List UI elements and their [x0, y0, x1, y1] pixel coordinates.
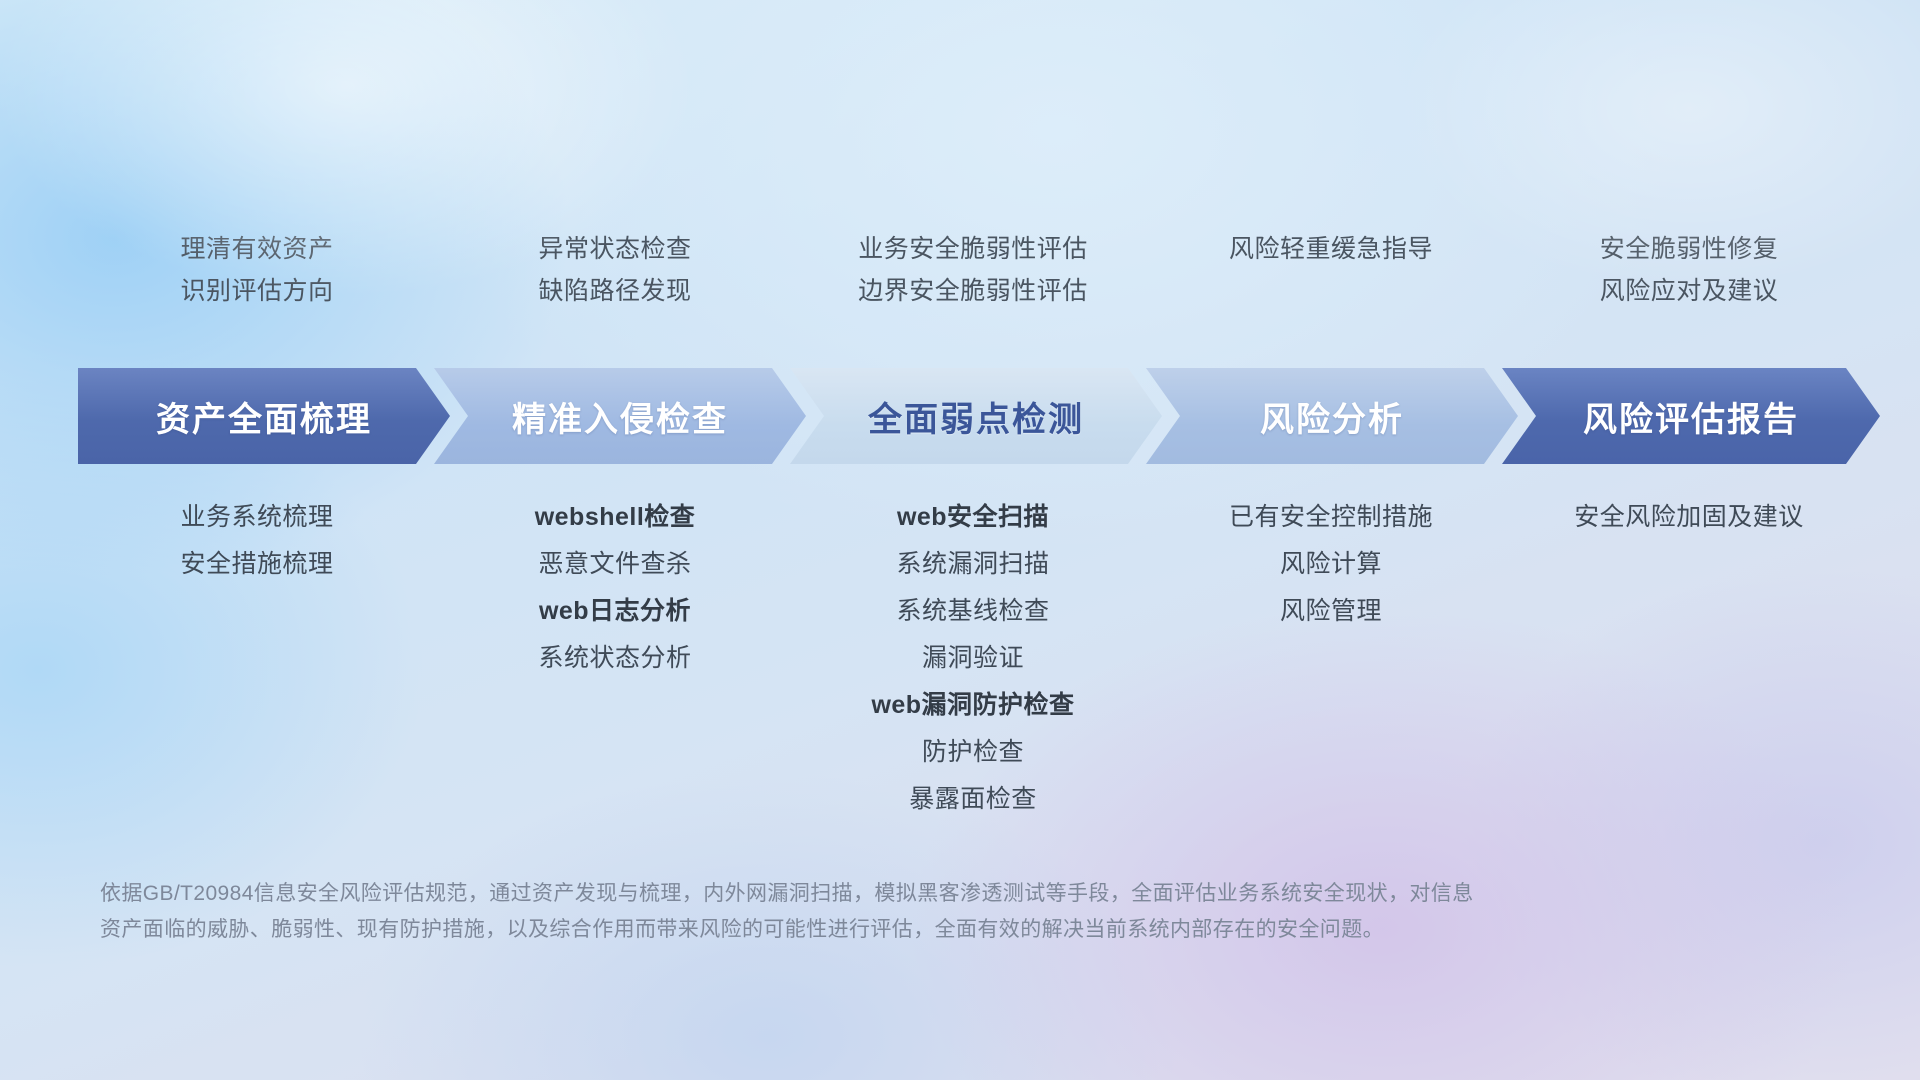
footer-line-2: 资产面临的威胁、脆弱性、现有防护措施，以及综合作用而带来风险的可能性进行评估，全… [100, 912, 1740, 948]
bottom-list-2: webshell检查 恶意文件查杀 web日志分析 系统状态分析 [436, 494, 794, 682]
bottom-list-1: 业务系统梳理 安全措施梳理 [78, 494, 436, 588]
list-item: web安全扫描 [794, 494, 1152, 541]
process-chevron-band: 资产全面梳理 精准入侵检查 全面弱点检测 风险分析 风险评估报告 [78, 368, 1878, 464]
list-item: 系统基线检查 [794, 588, 1152, 635]
bottom-list-3: web安全扫描 系统漏洞扫描 系统基线检查 漏洞验证 web漏洞防护检查 防护检… [794, 494, 1152, 823]
list-item: 漏洞验证 [794, 635, 1152, 682]
top-note: 边界安全脆弱性评估 [794, 270, 1152, 312]
chevron-label: 全面弱点检测 [868, 392, 1084, 441]
list-item: 业务系统梳理 [78, 494, 436, 541]
top-notes-5: 安全脆弱性修复 风险应对及建议 [1510, 228, 1868, 312]
list-item: 系统状态分析 [436, 635, 794, 682]
top-note: 缺陷路径发现 [436, 270, 794, 312]
chevron-label: 风险分析 [1260, 392, 1404, 441]
chevron-stage-2[interactable]: 精准入侵检查 [434, 368, 806, 464]
top-notes-3: 业务安全脆弱性评估 边界安全脆弱性评估 [794, 228, 1152, 312]
list-item: 暴露面检查 [794, 776, 1152, 823]
top-notes-1: 理清有效资产 识别评估方向 [78, 228, 436, 312]
bottom-list-5: 安全风险加固及建议 [1510, 494, 1868, 541]
chevron-label: 资产全面梳理 [156, 392, 372, 441]
top-note: 理清有效资产 [78, 228, 436, 270]
list-item: 恶意文件查杀 [436, 541, 794, 588]
top-notes-2: 异常状态检查 缺陷路径发现 [436, 228, 794, 312]
chevron-label: 精准入侵检查 [512, 392, 728, 441]
list-item: 系统漏洞扫描 [794, 541, 1152, 588]
list-item: 安全风险加固及建议 [1510, 494, 1868, 541]
top-note: 安全脆弱性修复 [1510, 228, 1868, 270]
chevron-stage-4[interactable]: 风险分析 [1146, 368, 1518, 464]
list-item: web漏洞防护检查 [794, 682, 1152, 729]
top-note: 异常状态检查 [436, 228, 794, 270]
list-item: 防护检查 [794, 729, 1152, 776]
footer-line-1: 依据GB/T20984信息安全风险评估规范，通过资产发现与梳理，内外网漏洞扫描，… [100, 876, 1740, 912]
top-note: 业务安全脆弱性评估 [794, 228, 1152, 270]
chevron-stage-5[interactable]: 风险评估报告 [1502, 368, 1880, 464]
top-notes-4: 风险轻重缓急指导 [1152, 228, 1510, 270]
list-item: web日志分析 [436, 588, 794, 635]
list-item: 安全措施梳理 [78, 541, 436, 588]
bottom-list-4: 已有安全控制措施 风险计算 风险管理 [1152, 494, 1510, 635]
slide-canvas: 理清有效资产 识别评估方向 业务系统梳理 安全措施梳理 异常状态检查 缺陷路径发… [0, 0, 1920, 1080]
chevron-stage-1[interactable]: 资产全面梳理 [78, 368, 450, 464]
list-item: 风险管理 [1152, 588, 1510, 635]
list-item: 已有安全控制措施 [1152, 494, 1510, 541]
chevron-stage-3[interactable]: 全面弱点检测 [790, 368, 1162, 464]
top-note: 风险应对及建议 [1510, 270, 1868, 312]
chevron-label: 风险评估报告 [1583, 392, 1799, 441]
top-note: 识别评估方向 [78, 270, 436, 312]
list-item: webshell检查 [436, 494, 794, 541]
top-note: 风险轻重缓急指导 [1152, 228, 1510, 270]
footer-description: 依据GB/T20984信息安全风险评估规范，通过资产发现与梳理，内外网漏洞扫描，… [100, 876, 1740, 948]
list-item: 风险计算 [1152, 541, 1510, 588]
